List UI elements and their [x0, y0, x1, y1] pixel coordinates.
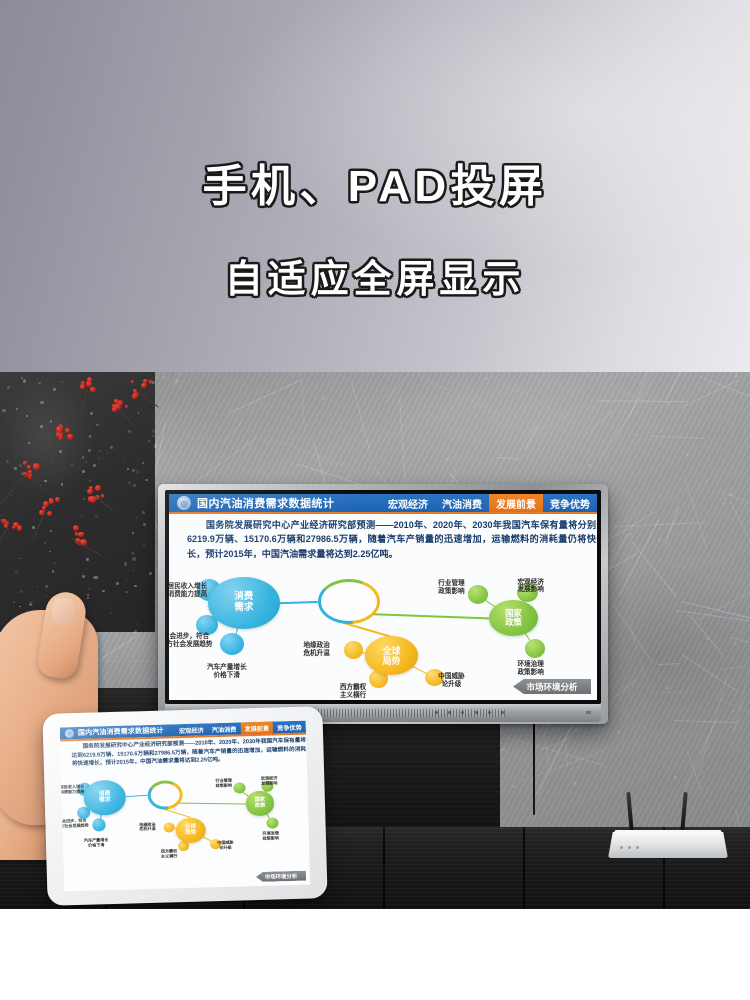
diagram-hub-policy: 国家 政策 — [245, 791, 274, 816]
diagram-satellite-node — [525, 639, 546, 658]
antenna-left-icon — [626, 792, 633, 832]
diagram-satellite-label: 环境治理 政策影响 — [508, 661, 553, 677]
diagram-connector — [372, 613, 489, 619]
diagram-hub-policy: 国家 政策 — [489, 600, 539, 637]
diagram-satellite-label: 宏观经济 发展影响 — [508, 579, 553, 595]
diagram-satellite-label: 居民收入增长 消费能力提高 — [60, 785, 87, 796]
diagram-satellite-label: 中国威胁 论升级 — [429, 673, 474, 689]
slide-tab-1[interactable]: 宏观经济 — [175, 723, 208, 736]
tv-screen[interactable]: ◎国内汽油消费需求数据统计宏观经济汽油消费发展前景竞争优势 国务院发展研究中心产… — [169, 494, 597, 700]
slide-logo-icon: ◎ — [65, 729, 74, 738]
slide-tab-2[interactable]: 汽油消费 — [435, 494, 489, 512]
slide-header: ◎国内汽油消费需求数据统计宏观经济汽油消费发展前景竞争优势 — [169, 494, 597, 512]
promo-banner: 手机、PAD投屏 自适应全屏显示 — [0, 0, 750, 372]
diagram-satellite-label: 居民收入增长 消费能力提高 — [169, 583, 212, 599]
banner-headline-primary: 手机、PAD投屏 — [0, 150, 750, 214]
diagram-center-ring — [147, 780, 183, 811]
router-body — [608, 832, 728, 858]
diagram-satellite-label: 西方霸权 主义横行 — [156, 849, 182, 860]
slide-tab-1[interactable]: 宏观经济 — [381, 494, 435, 512]
slide-footer-tag: 市场环境分析 — [256, 871, 306, 882]
wall-mounted-tv[interactable]: ◎国内汽油消费需求数据统计宏观经济汽油消费发展前景竞争优势 国务院发展研究中心产… — [158, 484, 608, 724]
slide-tab-4[interactable]: 竞争优势 — [273, 721, 306, 734]
diagram-satellite-label: 宏观经济 发展影响 — [256, 777, 282, 788]
diagram-satellite-node — [344, 641, 363, 658]
diagram-hub-global: 全球 局势 — [175, 817, 206, 844]
diagram-satellite-label: 社会进步，符合 西方社会发展趋势 — [60, 818, 89, 829]
slide-tab-3[interactable]: 发展前景 — [489, 494, 543, 512]
diagram-satellite-label: 地缘政治 危机升温 — [134, 822, 160, 833]
page-root: 手机、PAD投屏 自适应全屏显示 ◎国内汽油消费需求数据统计宏观经济汽油消费发展… — [0, 0, 750, 1000]
product-photo-scene: ◎国内汽油消费需求数据统计宏观经济汽油消费发展前景竞争优势 国务院发展研究中心产… — [0, 372, 750, 909]
tablet[interactable]: ◎国内汽油消费需求数据统计宏观经济汽油消费发展前景竞争优势 国务院发展研究中心产… — [42, 706, 327, 906]
diagram-center-ring — [318, 579, 380, 624]
diagram-satellite-label: 地缘政治 危机升温 — [294, 642, 339, 658]
diagram-satellite-label: 汽车产量增长 价格下滑 — [81, 838, 111, 849]
market-environment-diagram: 居民收入增长 消费能力提高社会进步，符合 西方社会发展趋势汽车产量增长 价格下滑… — [61, 776, 309, 861]
slide-logo-icon: ◎ — [177, 496, 191, 510]
diagram-satellite-label: 汽车产量增长 价格下滑 — [201, 664, 252, 680]
antenna-right-icon — [680, 792, 687, 832]
power-led-icon — [586, 711, 591, 714]
diagram-connector — [179, 802, 246, 804]
diagram-satellite-node — [163, 822, 174, 832]
diagram-connector — [126, 795, 148, 797]
diagram-connector — [280, 601, 318, 604]
slide-accent-rule — [169, 512, 597, 514]
tablet-screen[interactable]: ◎国内汽油消费需求数据统计宏观经济汽油消费发展前景竞争优势 国务院发展研究中心产… — [60, 721, 310, 892]
diagram-satellite-node — [92, 819, 106, 832]
diagram-hub-consumption: 消费 需求 — [83, 780, 126, 815]
slide-footer-tag: 市场环境分析 — [513, 679, 591, 694]
diagram-hub-global: 全球 局势 — [365, 636, 418, 675]
slide-body-text: 国务院发展研究中心产业经济研究部预测——2010年、2020年、2030年我国汽… — [71, 736, 310, 769]
slide-tab-3[interactable]: 发展前景 — [240, 722, 273, 735]
slide-tab-2[interactable]: 汽油消费 — [207, 722, 240, 735]
wifi-router[interactable] — [608, 792, 728, 858]
diagram-satellite-node — [267, 818, 279, 829]
tv-inner-frame: ◎国内汽油消费需求数据统计宏观经济汽油消费发展前景竞争优势 国务院发展研究中心产… — [165, 490, 601, 704]
diagram-satellite-label: 环境治理 政策影响 — [258, 831, 284, 842]
bottom-white-margin — [0, 909, 750, 1000]
market-environment-diagram: 居民收入增长 消费能力提高社会进步，符合 西方社会发展趋势汽车产量增长 价格下滑… — [169, 578, 597, 696]
diagram-satellite-label: 社会进步，符合 西方社会发展趋势 — [169, 633, 215, 649]
slide-body-text: 国务院发展研究中心产业经济研究部预测——2010年、2020年、2030年我国汽… — [187, 518, 597, 561]
diagram-satellite-label: 西方霸权 主义横行 — [331, 684, 376, 700]
tv-power-cable — [533, 719, 535, 815]
diagram-satellite-label: 行业管理 政策影响 — [429, 580, 474, 596]
slide-title: 国内汽油消费需求数据统计 — [197, 495, 334, 511]
slide-tab-bar: 宏观经济汽油消费发展前景竞争优势 — [381, 494, 597, 512]
diagram-satellite-label: 中国威胁 论升级 — [212, 840, 238, 851]
diagram-satellite-node — [220, 633, 244, 655]
banner-headline-secondary: 自适应全屏显示 — [0, 248, 750, 303]
thumbnail — [52, 598, 75, 625]
diagram-hub-consumption: 消费 需求 — [208, 577, 281, 629]
diagram-satellite-label: 行业管理 政策影响 — [211, 779, 237, 790]
slide-tab-4[interactable]: 竞争优势 — [543, 494, 597, 512]
